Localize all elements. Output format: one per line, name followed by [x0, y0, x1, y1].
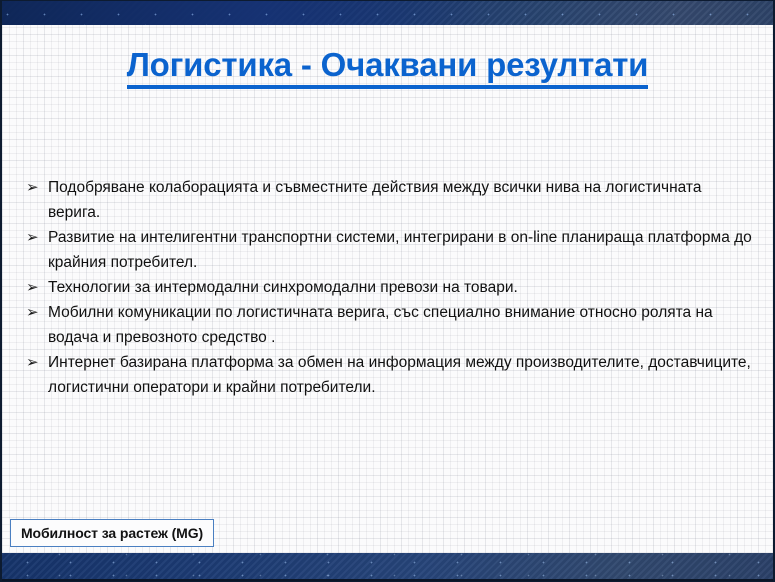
list-item: ➢ Мобилни комуникации по логистичната ве… [24, 300, 754, 350]
bullet-list: ➢ Подобряване колаборацията и съвместнит… [24, 175, 754, 400]
top-bar-star-texture [2, 1, 773, 25]
page-title: Логистика - Очаквани резултати [127, 46, 649, 89]
list-item: ➢ Интернет базирана платформа за обмен н… [24, 350, 754, 400]
list-item: ➢ Развитие на интелигентни транспортни с… [24, 225, 754, 275]
list-item: ➢ Технологии за интермодални синхромодал… [24, 275, 754, 300]
arrowhead-bullet-icon: ➢ [24, 275, 48, 300]
footer-badge-label: Мобилност за растеж (MG) [21, 525, 203, 541]
bottom-decorative-bar [2, 553, 773, 581]
list-item-text: Развитие на интелигентни транспортни сис… [48, 225, 754, 275]
list-item-text: Мобилни комуникации по логистичната вери… [48, 300, 754, 350]
presentation-slide: Логистика - Очаквани резултати ➢ Подобря… [0, 0, 775, 582]
arrowhead-bullet-icon: ➢ [24, 300, 48, 325]
list-item: ➢ Подобряване колаборацията и съвместнит… [24, 175, 754, 225]
arrowhead-bullet-icon: ➢ [24, 350, 48, 375]
arrowhead-bullet-icon: ➢ [24, 225, 48, 250]
title-container: Логистика - Очаквани резултати [2, 46, 773, 89]
list-item-text: Интернет базирана платформа за обмен на … [48, 350, 754, 400]
list-item-text: Технологии за интермодални синхромодални… [48, 275, 754, 300]
list-item-text: Подобряване колаборацията и съвместните … [48, 175, 754, 225]
top-decorative-bar [2, 1, 773, 25]
arrowhead-bullet-icon: ➢ [24, 175, 48, 200]
footer-badge: Мобилност за растеж (MG) [10, 519, 214, 547]
bottom-bar-star-texture [2, 553, 773, 579]
